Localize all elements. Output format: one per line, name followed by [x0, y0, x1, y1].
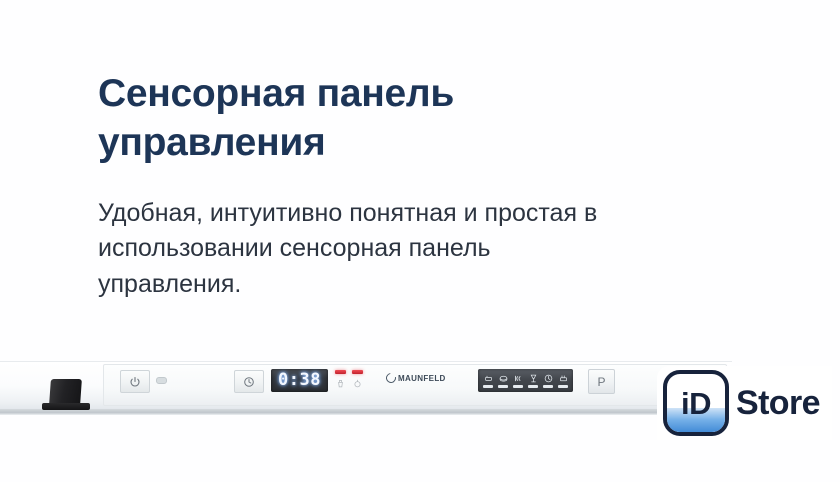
program-intensive-underline: [498, 385, 508, 388]
store-wordmark: Store: [736, 386, 820, 420]
brand-name: MAUNFELD: [398, 374, 446, 383]
power-status-led: [156, 377, 167, 384]
brand-swirl-icon: [384, 371, 398, 385]
quick-clock-icon: [544, 373, 553, 383]
program-auto[interactable]: [512, 373, 524, 388]
panel-face: [103, 364, 727, 406]
door-handle[interactable]: [42, 379, 90, 412]
promo-text-block: Сенсорная панель управления Удобная, инт…: [98, 70, 658, 302]
program-select-label: P: [597, 375, 605, 389]
rinse-aid-indicator: [352, 370, 364, 388]
program-eco[interactable]: [482, 373, 494, 388]
id-badge-icon: iD: [663, 370, 729, 436]
salt-indicator-led: [335, 370, 346, 374]
auto-icon: [514, 373, 523, 383]
id-badge-text: iD: [667, 374, 725, 432]
program-delicate[interactable]: [557, 373, 569, 388]
door-handle-grip: [49, 379, 82, 405]
program-delicate-underline: [558, 385, 568, 388]
panel-bottom-lip: [0, 409, 732, 415]
rinse-aid-indicator-led: [352, 370, 363, 374]
program-indicator-strip: [478, 369, 573, 392]
display-value: 0:38: [278, 372, 321, 389]
delicate-icon: [559, 373, 568, 383]
power-button[interactable]: [120, 370, 150, 393]
glass-icon: [529, 373, 538, 383]
program-quick[interactable]: [542, 373, 554, 388]
page-title: Сенсорная панель управления: [98, 70, 548, 168]
salt-icon: [335, 378, 346, 388]
program-glass-underline: [528, 385, 538, 388]
pot-icon: [499, 373, 508, 383]
rinse-aid-icon: [352, 378, 363, 388]
door-handle-base: [42, 403, 90, 410]
promo-description: Удобная, интуитивно понятная и простая в…: [98, 196, 628, 303]
program-glass[interactable]: [527, 373, 539, 388]
program-eco-underline: [483, 385, 493, 388]
program-select-button[interactable]: P: [588, 369, 615, 394]
brand-logo: MAUNFELD: [386, 373, 446, 383]
timer-button[interactable]: [234, 370, 264, 393]
digital-display: 0:38: [271, 369, 328, 392]
plate-icon: [484, 373, 493, 383]
program-auto-underline: [513, 385, 523, 388]
clock-icon: [243, 376, 255, 388]
id-store-logo[interactable]: iD Store: [657, 366, 832, 440]
salt-indicator: [335, 370, 347, 388]
program-quick-underline: [543, 385, 553, 388]
power-icon: [129, 376, 141, 388]
program-intensive[interactable]: [497, 373, 509, 388]
